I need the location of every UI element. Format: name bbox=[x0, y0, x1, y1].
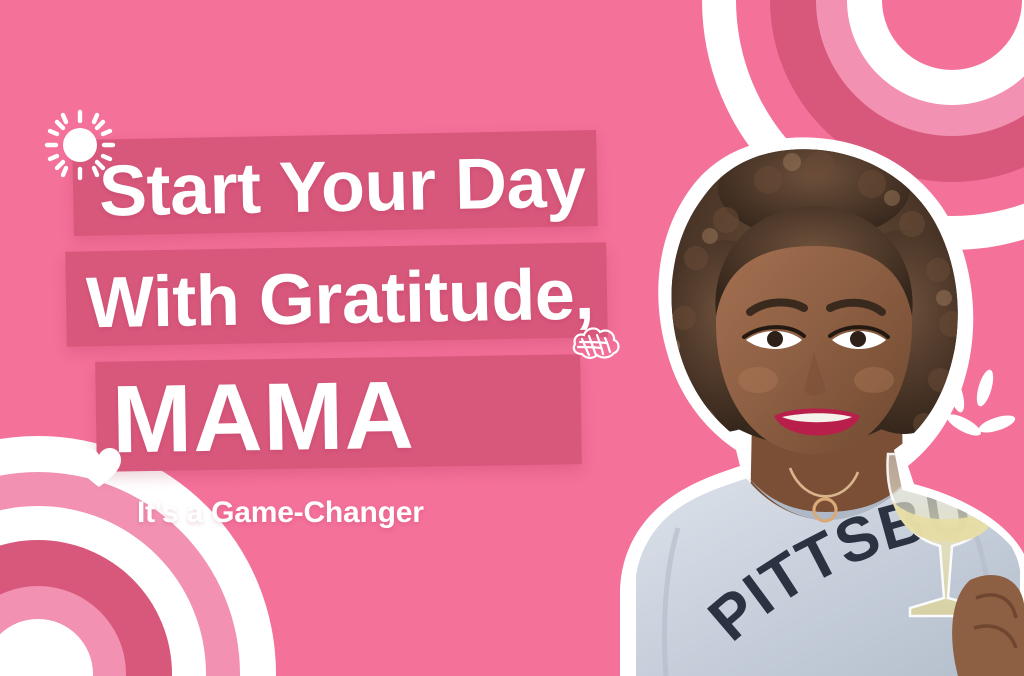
ring-core-pink bbox=[882, 0, 1022, 70]
ring-inner-pink bbox=[0, 586, 126, 676]
woman-photo: PITTSBURGH bbox=[592, 128, 1024, 676]
headline-line-3: MAMA bbox=[111, 361, 415, 476]
ring-core-white bbox=[0, 619, 93, 676]
pupil-right bbox=[850, 331, 866, 347]
cheek-right bbox=[854, 367, 894, 393]
subheadline: It's a Game-Changer bbox=[137, 496, 424, 530]
ring-deep-rose bbox=[0, 540, 172, 676]
woman-photo-illustration: PITTSBURGH bbox=[592, 128, 1024, 676]
cheek-left bbox=[738, 367, 778, 393]
headline-line-1: Start Your Day bbox=[98, 141, 586, 232]
headline-line-2: With Gratitude, bbox=[85, 254, 594, 345]
ring-mid-white bbox=[0, 506, 206, 676]
ring-inner-white bbox=[847, 0, 1024, 105]
graphic-canvas: PITTSBURGH bbox=[0, 0, 1024, 676]
ring-light-pink bbox=[816, 0, 1024, 136]
pupil-left bbox=[767, 331, 783, 347]
